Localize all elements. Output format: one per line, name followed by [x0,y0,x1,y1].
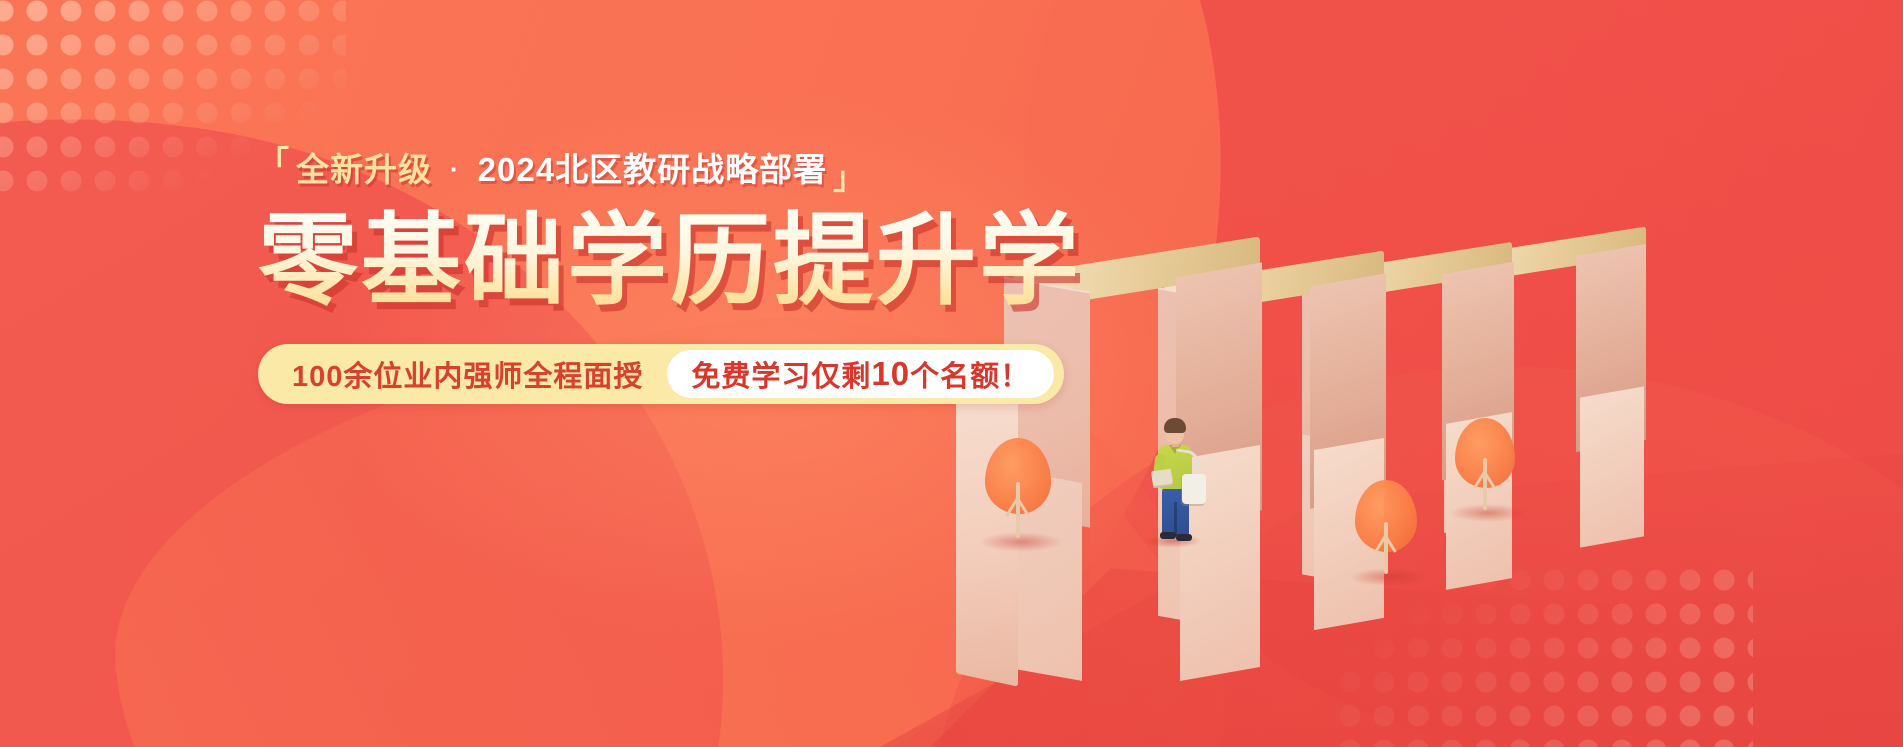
tree-left-shadow [979,532,1063,552]
student-tote-bag [1182,474,1206,504]
promo-banner[interactable]: 「 全新升级 · 2024北区教研战略部署 」 零基础学历提升学霸班 100余位… [0,0,1903,747]
banner-pill[interactable]: 100余位业内强师全程面授 免费学习仅剩 10 个名额！ [258,344,1064,404]
banner-copy: 「 全新升级 · 2024北区教研战略部署 」 零基础学历提升学霸班 100余位… [258,150,1078,404]
pill-right-suffix: 个名额！ [910,353,1030,395]
tree-left [985,438,1055,548]
tree-middle-trunk [1384,522,1388,574]
banner-headline: 零基础学历提升学霸班 [258,208,1078,314]
tree-middle-shadow [1349,568,1429,586]
tree-left-trunk [1016,482,1020,538]
student-held-book [1151,469,1173,487]
tree-middle [1355,480,1421,584]
pill-left-label: 100余位业内强师全程面授 [292,353,667,395]
student-hair [1164,418,1186,433]
pill-right-prefix: 免费学习仅剩 [691,353,871,395]
eyebrow-open-bracket: 「 [258,144,290,181]
tree-right-trunk [1483,458,1487,510]
pill-right-number: 10 [871,355,910,393]
tree-right-shadow [1449,504,1527,522]
book-4-leg-right [1580,386,1644,547]
eyebrow-close-bracket: 」 [833,160,865,197]
pill-right-badge[interactable]: 免费学习仅剩 10 个名额！ [667,350,1054,398]
student-figure [1148,418,1218,538]
eyebrow-highlight: 全新升级 [296,150,432,190]
eyebrow-plain: 2024北区教研战略部署 [478,150,827,190]
tree-right [1455,418,1519,520]
student-leg-split [1174,502,1177,536]
banner-eyebrow: 「 全新升级 · 2024北区教研战略部署 」 [258,150,1078,190]
student-shoe-right [1176,534,1192,541]
student-shoe-left [1160,532,1176,539]
eyebrow-separator: · [438,154,472,185]
